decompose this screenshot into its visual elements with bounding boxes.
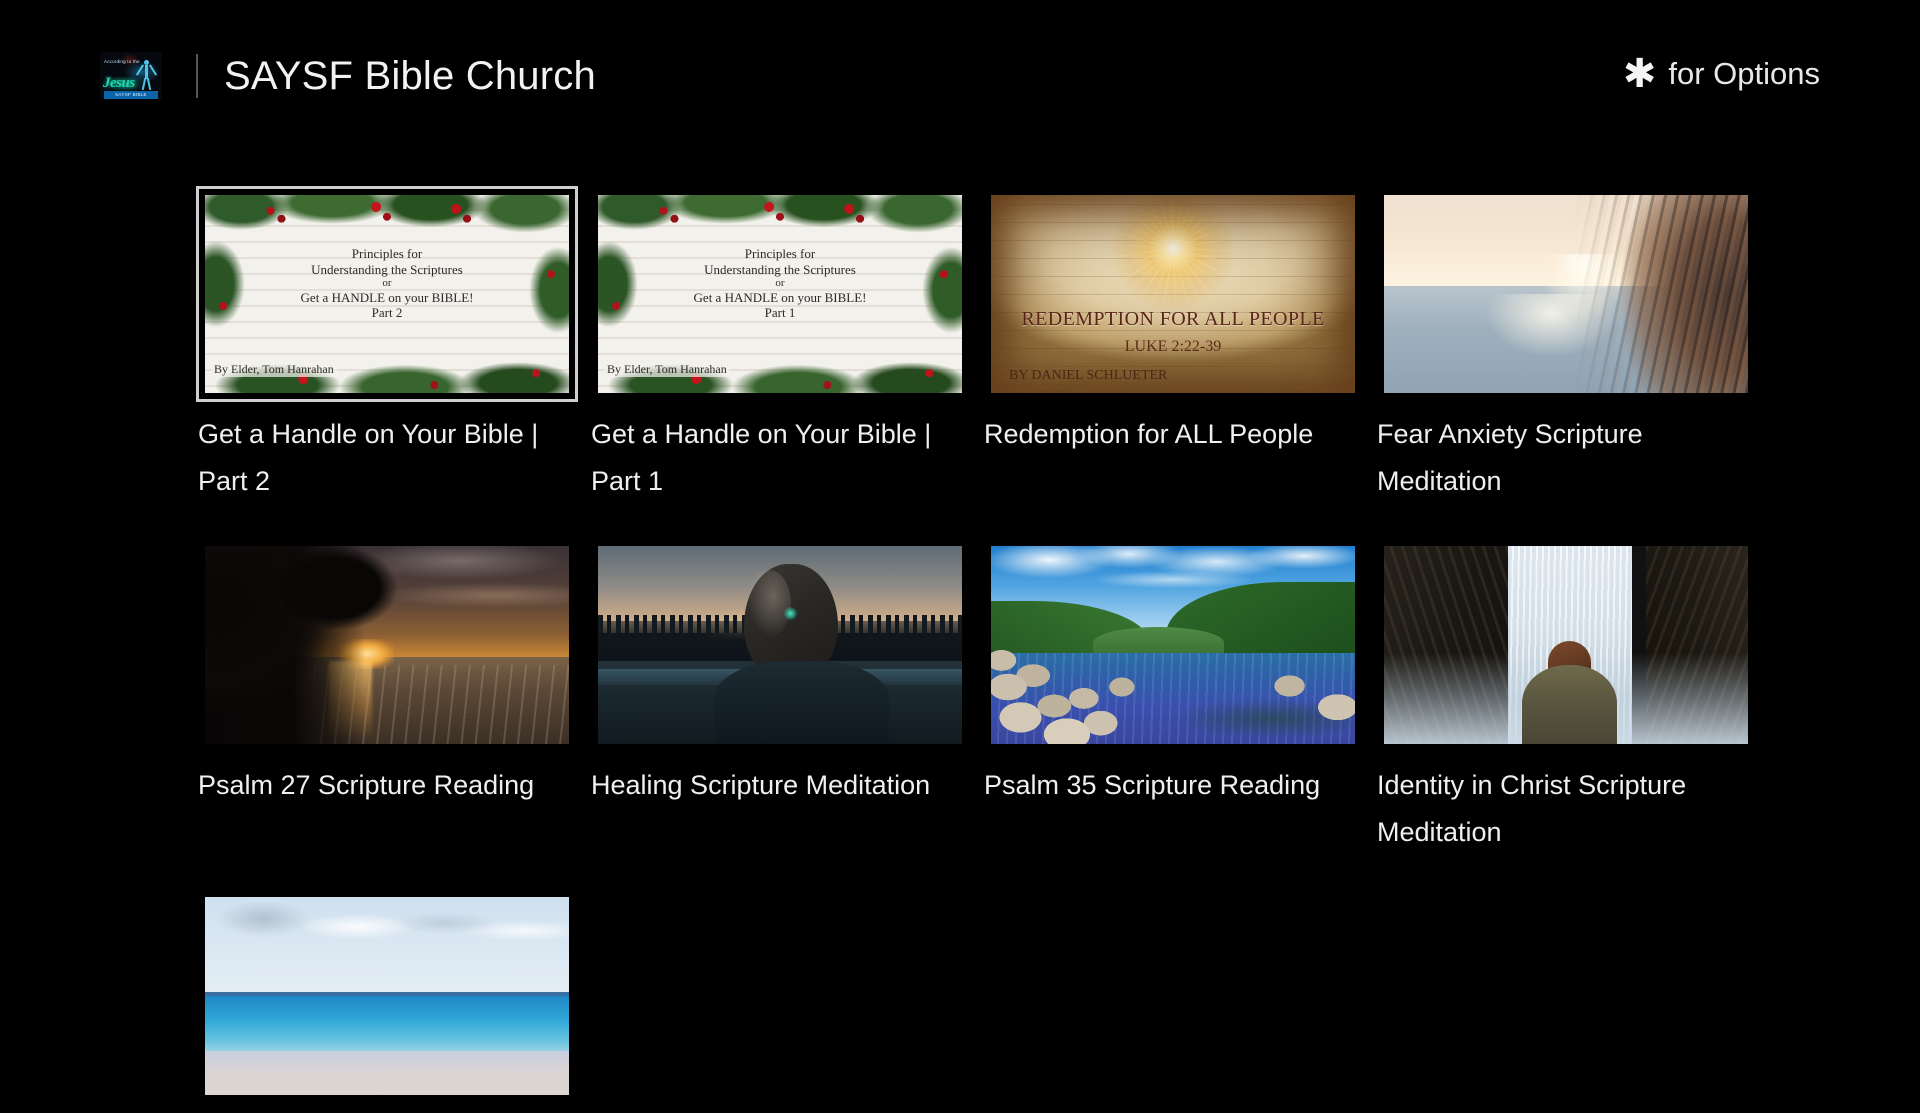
thumbnail-image: Principles for Understanding the Scriptu… — [205, 195, 569, 393]
slide-byline: By Elder, Tom Hanrahan — [604, 362, 730, 377]
options-hint[interactable]: ✱ for Options — [1623, 52, 1820, 96]
logo-footer-band: SAYSF BIBLE CHURCH — [104, 91, 158, 99]
video-card-psalm-35-scripture-reading[interactable]: Psalm 35 Scripture Reading — [982, 537, 1364, 856]
video-title: Get a Handle on Your Bible | Part 2 — [196, 411, 556, 505]
logo-tagline: According to the — [104, 59, 140, 64]
thumbnail-frame — [982, 537, 1364, 753]
logo-wordmark: Jesus — [103, 76, 135, 91]
thumbnail-frame — [589, 537, 971, 753]
video-grid: Principles for Understanding the Scriptu… — [196, 186, 1816, 1113]
lens-flare-icon — [784, 607, 797, 620]
thumbnail-image: Principles for Understanding the Scriptu… — [598, 195, 962, 393]
thumbnail-frame: Principles for Understanding the Scriptu… — [589, 186, 971, 402]
slide-line-4: Get a HANDLE on your BIBLE! — [205, 290, 569, 305]
video-title: Healing Scripture Meditation — [589, 762, 949, 809]
slide-reference: LUKE 2:22-39 — [991, 338, 1355, 356]
slide-line-5: Part 1 — [598, 305, 962, 320]
thumbnail-image: REDEMPTION FOR ALL PEOPLE LUKE 2:22-39 B… — [991, 195, 1355, 393]
video-title: Psalm 35 Scripture Reading — [982, 762, 1342, 809]
thumbnail-image — [205, 546, 569, 744]
brand-block: According to the Jesus SAYSF BIBLE CHURC… — [100, 52, 596, 100]
slide-line-2: Understanding the Scriptures — [205, 262, 569, 277]
slide-line-3: or — [205, 277, 569, 290]
video-card-redemption-for-all-people[interactable]: REDEMPTION FOR ALL PEOPLE LUKE 2:22-39 B… — [982, 186, 1364, 505]
video-card-ocean[interactable] — [196, 888, 578, 1113]
church-logo: According to the Jesus SAYSF BIBLE CHURC… — [100, 52, 162, 100]
jesus-figure-icon — [138, 60, 155, 90]
thumbnail-image — [1384, 546, 1748, 744]
video-card-fear-anxiety-scripture-meditation[interactable]: Fear Anxiety Scripture Meditation — [1375, 186, 1757, 505]
thumbnail-frame — [196, 888, 578, 1104]
thumbnail-image — [991, 546, 1355, 744]
video-card-healing-scripture-meditation[interactable]: Healing Scripture Meditation — [589, 537, 971, 856]
video-title: Redemption for ALL People — [982, 411, 1342, 458]
slide-line-2: Understanding the Scriptures — [598, 262, 962, 277]
thumbnail-frame — [1375, 537, 1757, 753]
thumbnail-frame: REDEMPTION FOR ALL PEOPLE LUKE 2:22-39 B… — [982, 186, 1364, 402]
video-card-identity-in-christ-scripture-meditation[interactable]: Identity in Christ Scripture Meditation — [1375, 537, 1757, 856]
slide-byline: BY DANIEL SCHLUETER — [1009, 368, 1167, 384]
page-title: SAYSF Bible Church — [224, 54, 596, 98]
app-header: According to the Jesus SAYSF BIBLE CHURC… — [0, 0, 1920, 150]
thumbnail-frame — [196, 537, 578, 753]
slide-line-1: Principles for — [205, 246, 569, 261]
thumbnail-frame — [1375, 186, 1757, 402]
thumbnail-image — [205, 897, 569, 1095]
slide-line-3: or — [598, 277, 962, 290]
video-title: Identity in Christ Scripture Meditation — [1375, 762, 1735, 856]
thumbnail-image — [1384, 195, 1748, 393]
video-card-get-a-handle-part-1[interactable]: Principles for Understanding the Scriptu… — [589, 186, 971, 505]
slide-line-4: Get a HANDLE on your BIBLE! — [598, 290, 962, 305]
video-card-get-a-handle-part-2[interactable]: Principles for Understanding the Scriptu… — [196, 186, 578, 505]
video-title: Psalm 27 Scripture Reading — [196, 762, 556, 809]
slide-line-1: Principles for — [598, 246, 962, 261]
slide-heading: REDEMPTION FOR ALL PEOPLE — [991, 308, 1355, 331]
asterisk-icon: ✱ — [1623, 54, 1657, 94]
video-card-psalm-27-scripture-reading[interactable]: Psalm 27 Scripture Reading — [196, 537, 578, 856]
video-title: Fear Anxiety Scripture Meditation — [1375, 411, 1735, 505]
options-hint-label: for Options — [1668, 52, 1820, 96]
slide-byline: By Elder, Tom Hanrahan — [211, 362, 337, 377]
brand-divider — [196, 54, 198, 98]
thumbnail-frame: Principles for Understanding the Scriptu… — [196, 186, 578, 402]
video-title: Get a Handle on Your Bible | Part 1 — [589, 411, 949, 505]
thumbnail-image — [598, 546, 962, 744]
slide-line-5: Part 2 — [205, 305, 569, 320]
